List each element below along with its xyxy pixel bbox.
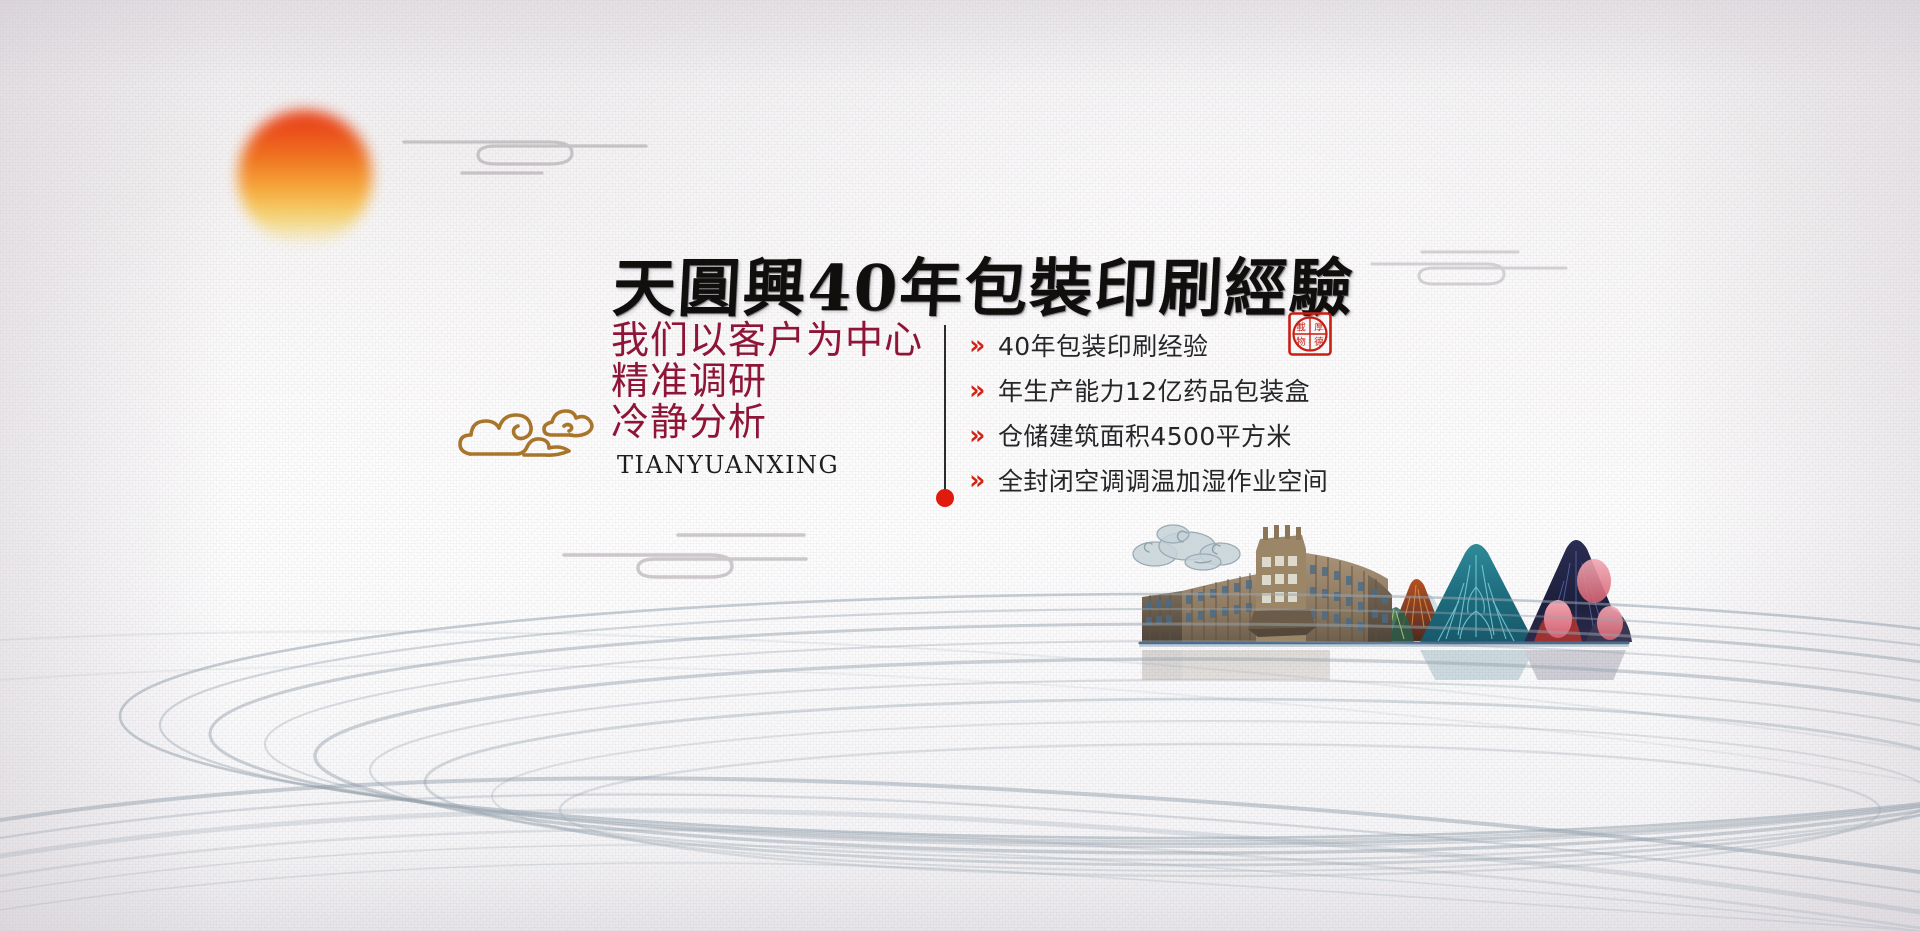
list-item: » 仓储建筑面积4500平方米 <box>968 415 1328 455</box>
list-item-label: 40年包装印刷经验 <box>998 327 1208 363</box>
list-item: » 40年包装印刷经验 <box>968 325 1328 365</box>
seal-char-4: 德 <box>1314 336 1324 348</box>
cloud-line-top-left-icon <box>400 120 650 182</box>
list-item: » 全封闭空调调温加湿作业空间 <box>968 460 1328 500</box>
cloud-golden-left-icon <box>452 392 597 479</box>
page-title: 天圓興40年包裝印刷經驗 <box>611 238 1357 329</box>
list-item-label: 全封闭空调调温加湿作业空间 <box>998 462 1328 498</box>
brand-pinyin: TIANYUANXING <box>611 451 941 479</box>
slogan-block: 我们以客户为中心 精准调研 冷静分析 TIANYUANXING <box>611 320 941 479</box>
seal-char-3: 物 <box>1296 336 1306 348</box>
promo-banner: 天圓興40年包裝印刷經驗 我们以客户为中心 精准调研 冷静分析 TIANYUAN… <box>0 0 1920 931</box>
vertical-divider <box>944 325 946 497</box>
feature-list: » 40年包装印刷经验 » 年生产能力12亿药品包装盒 » 仓储建筑面积4500… <box>968 325 1328 505</box>
seal-char-1: 載 <box>1296 322 1306 334</box>
chevron-double-right-icon: » <box>969 377 997 404</box>
divider-dot <box>936 489 954 507</box>
ink-swirl-decoration <box>0 520 1920 931</box>
slogan-line-3: 冷静分析 <box>611 402 941 443</box>
list-item: » 年生产能力12亿药品包装盒 <box>968 370 1328 410</box>
list-item-label: 年生产能力12亿药品包装盒 <box>998 372 1310 408</box>
slogan-line-2: 精准调研 <box>611 361 941 402</box>
seal-stamp-icon: 載 厚 物 德 <box>1288 312 1332 356</box>
slogan-line-1: 我们以客户为中心 <box>611 320 941 361</box>
list-item-label: 仓储建筑面积4500平方米 <box>998 417 1292 453</box>
chevron-double-right-icon: » <box>969 422 997 449</box>
chevron-double-right-icon: » <box>969 332 997 359</box>
rising-sun-icon <box>238 110 372 244</box>
seal-char-2: 厚 <box>1314 323 1324 334</box>
chevron-double-right-icon: » <box>969 467 997 494</box>
cloud-line-top-right-icon <box>1370 238 1570 292</box>
